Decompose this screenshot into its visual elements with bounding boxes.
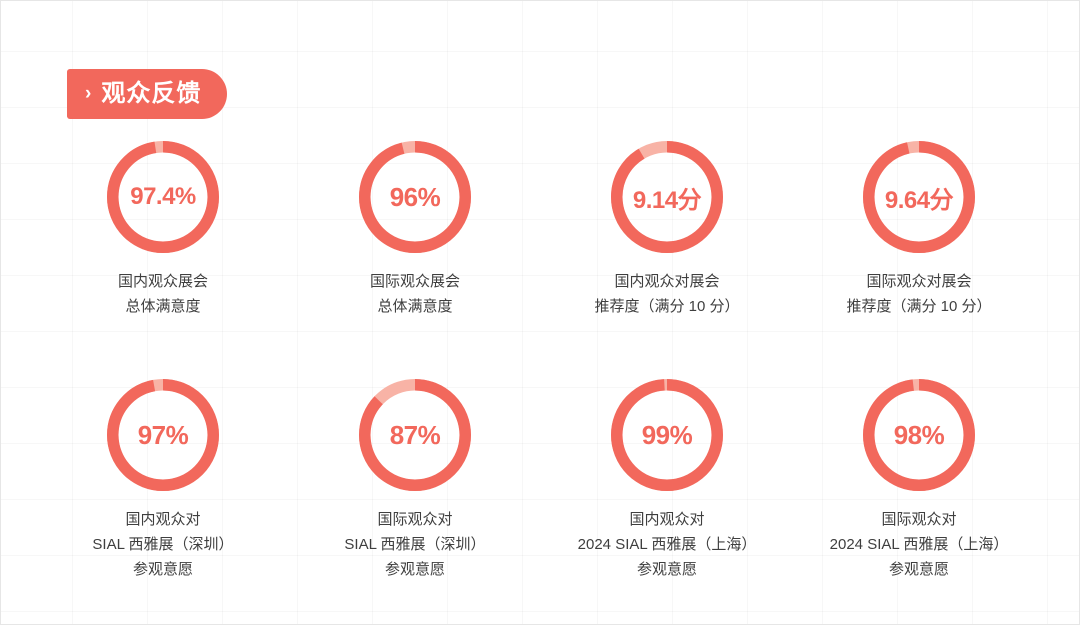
donut-value-label: 9.14分 [611,141,723,253]
stat-caption-line: SIAL 西雅展（深圳） [344,532,485,557]
donut-gauge: 96% [359,141,471,253]
stat-caption-line: 国际观众展会 [370,269,460,294]
stat-caption-line: 总体满意度 [370,294,460,319]
stat-cell: 97%国内观众对SIAL 西雅展（深圳）参观意愿 [37,379,289,582]
donut-gauge: 87% [359,379,471,491]
donut-value-label: 87% [359,379,471,491]
donut-value-label: 97.4% [107,141,219,253]
stat-caption-line: 国际观众对展会 [846,269,991,294]
donut-gauge: 98% [863,379,975,491]
stat-cell: 98%国际观众对2024 SIAL 西雅展（上海）参观意愿 [793,379,1045,582]
stat-caption: 国内观众对SIAL 西雅展（深圳）参观意愿 [92,507,233,582]
stat-caption-line: 国际观众对 [344,507,485,532]
stat-caption-line: 参观意愿 [92,557,233,582]
stat-caption: 国际观众对2024 SIAL 西雅展（上海）参观意愿 [830,507,1009,582]
stat-cell: 9.14分国内观众对展会推荐度（满分 10 分） [541,141,793,319]
stat-cell: 87%国际观众对SIAL 西雅展（深圳）参观意愿 [289,379,541,582]
stat-caption-line: 国内观众对 [578,507,757,532]
stat-caption: 国内观众对2024 SIAL 西雅展（上海）参观意愿 [578,507,757,582]
stat-cell: 96%国际观众展会总体满意度 [289,141,541,319]
donut-value-label: 97% [107,379,219,491]
stat-caption-line: 参观意愿 [578,557,757,582]
audience-feedback-page: › 观众反馈 97.4%国内观众展会总体满意度96%国际观众展会总体满意度9.1… [0,0,1080,625]
stat-caption-line: 国际观众对 [830,507,1009,532]
section-badge: › 观众反馈 [67,69,227,119]
stat-caption-line: 推荐度（满分 10 分） [846,294,991,319]
stat-caption: 国际观众展会总体满意度 [370,269,460,319]
stat-caption: 国际观众对SIAL 西雅展（深圳）参观意愿 [344,507,485,582]
stat-caption-line: 参观意愿 [344,557,485,582]
stat-caption-line: SIAL 西雅展（深圳） [92,532,233,557]
donut-value-label: 9.64分 [863,141,975,253]
stat-caption-line: 2024 SIAL 西雅展（上海） [578,532,757,557]
stat-cell: 99%国内观众对2024 SIAL 西雅展（上海）参观意愿 [541,379,793,582]
donut-gauge: 97% [107,379,219,491]
chevron-right-icon: › [85,84,91,103]
stat-caption-line: 国内观众对展会 [594,269,739,294]
stat-caption-line: 2024 SIAL 西雅展（上海） [830,532,1009,557]
stat-caption: 国际观众对展会推荐度（满分 10 分） [846,269,991,319]
stat-caption-line: 推荐度（满分 10 分） [594,294,739,319]
stat-caption-line: 国内观众展会 [118,269,208,294]
donut-gauge: 97.4% [107,141,219,253]
stat-caption: 国内观众对展会推荐度（满分 10 分） [594,269,739,319]
stats-row-2: 97%国内观众对SIAL 西雅展（深圳）参观意愿87%国际观众对SIAL 西雅展… [37,379,1045,582]
section-title: 观众反馈 [101,82,201,106]
stat-caption-line: 总体满意度 [118,294,208,319]
donut-gauge: 9.14分 [611,141,723,253]
stat-caption-line: 参观意愿 [830,557,1009,582]
stat-cell: 9.64分国际观众对展会推荐度（满分 10 分） [793,141,1045,319]
donut-value-label: 99% [611,379,723,491]
stat-caption: 国内观众展会总体满意度 [118,269,208,319]
stats-row-1: 97.4%国内观众展会总体满意度96%国际观众展会总体满意度9.14分国内观众对… [37,141,1045,319]
donut-gauge: 9.64分 [863,141,975,253]
donut-gauge: 99% [611,379,723,491]
stat-cell: 97.4%国内观众展会总体满意度 [37,141,289,319]
stat-caption-line: 国内观众对 [92,507,233,532]
donut-value-label: 98% [863,379,975,491]
stats-grid: 97.4%国内观众展会总体满意度96%国际观众展会总体满意度9.14分国内观众对… [37,141,1045,582]
donut-value-label: 96% [359,141,471,253]
